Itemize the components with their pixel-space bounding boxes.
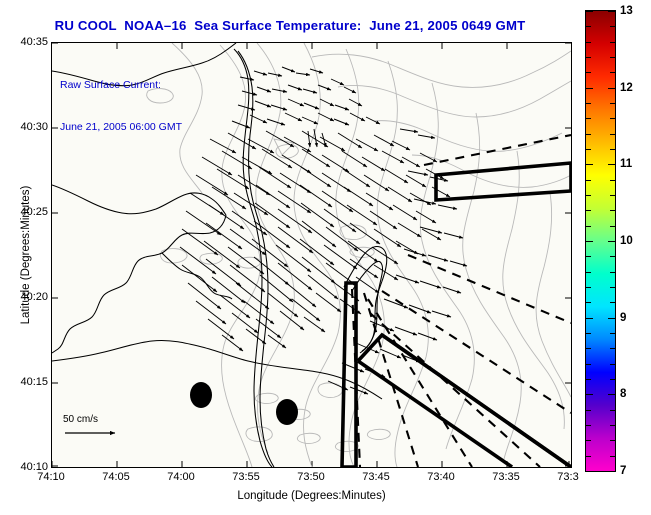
y-axis-title: Latitude (Degrees:Minutes) xyxy=(20,155,32,355)
colorbar-tick-labels: 13121110987 xyxy=(585,0,651,515)
colorbar-tick-label: 13 xyxy=(620,5,633,17)
x-tick-label: 74:10 xyxy=(37,471,65,483)
map-canvas xyxy=(52,43,571,467)
x-tick-label: 73:55 xyxy=(232,471,260,483)
x-tick-label: 73:50 xyxy=(297,471,325,483)
figure-root: RU COOL NOAA–16 Sea Surface Temperature:… xyxy=(0,0,651,515)
x-axis-ticks: 74:10 74:05 74:00 73:55 73:50 73:45 73:4… xyxy=(0,471,651,487)
colorbar-tick-label: 10 xyxy=(620,235,633,247)
colorbar-tick-label: 12 xyxy=(620,82,633,94)
x-tick-label: 73:35 xyxy=(492,471,520,483)
surface-current-vectors xyxy=(180,67,467,394)
y-tick-label: 40:35 xyxy=(2,36,48,48)
colorbar-tick-label: 11 xyxy=(620,158,632,170)
colorbar-tick-label: 7 xyxy=(620,465,626,477)
x-tick-label: 73:45 xyxy=(362,471,390,483)
arrow-right-icon xyxy=(63,426,133,440)
x-tick-label: 73:3 xyxy=(557,471,578,483)
axis-inner-ticks xyxy=(52,43,571,467)
colorbar-tick-label: 9 xyxy=(620,312,626,324)
dump-site-ellipses xyxy=(190,382,298,425)
sst-contour-lines xyxy=(147,43,571,467)
x-axis-title: Longitude (Degrees:Minutes) xyxy=(51,490,572,502)
y-tick-label: 40:30 xyxy=(2,121,48,133)
scale-legend-label: 50 cm/s xyxy=(63,414,153,425)
y-tick-label: 40:15 xyxy=(2,376,48,388)
x-tick-label: 74:05 xyxy=(102,471,130,483)
vector-scale-legend: 50 cm/s xyxy=(63,414,153,445)
colorbar-tick-label: 8 xyxy=(620,388,626,400)
page-title: RU COOL NOAA–16 Sea Surface Temperature:… xyxy=(0,18,580,33)
map-plot-area[interactable]: Raw Surface Current: June 21, 2005 06:00… xyxy=(51,42,572,468)
dashed-radial-lines xyxy=(352,135,571,467)
x-tick-label: 73:40 xyxy=(427,471,455,483)
x-tick-label: 74:00 xyxy=(167,471,195,483)
